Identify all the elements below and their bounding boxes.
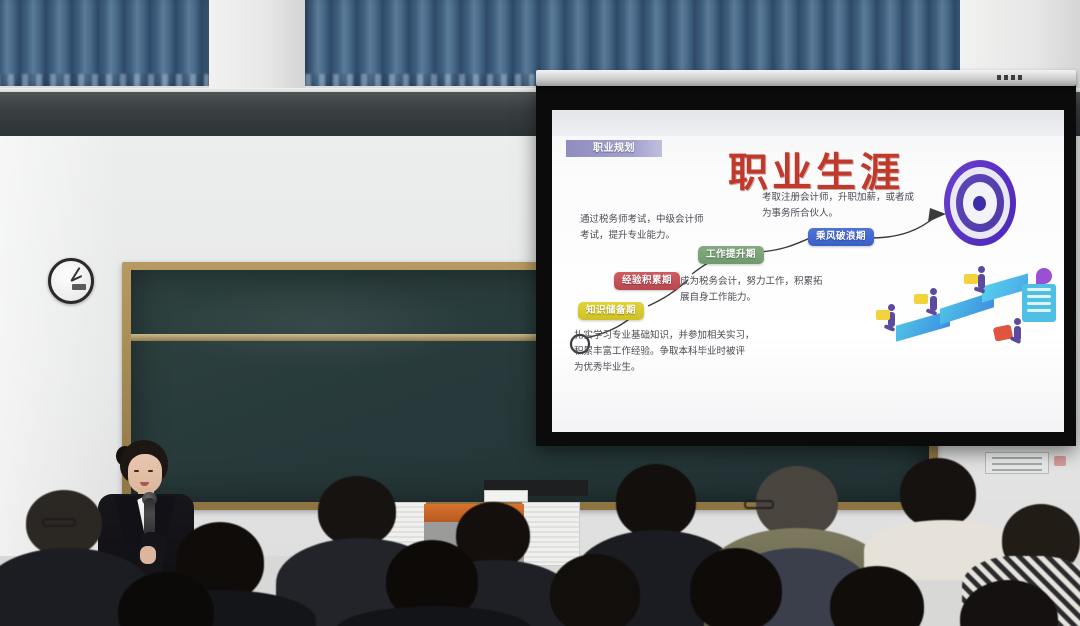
projection-screen: 职业规划 职业生涯 知识储备期 经验积累期 工作提升期 乘风破浪期 考取注册会计… xyxy=(536,84,1076,446)
stage-chip-1: 知识储备期 xyxy=(578,302,644,320)
stage-chip-2: 经验积累期 xyxy=(614,272,680,290)
blackboard-glare xyxy=(163,279,482,372)
audience-glasses xyxy=(744,500,774,509)
audience-head xyxy=(616,464,696,538)
roller-vent-dots xyxy=(997,75,1022,80)
audience-head xyxy=(900,458,976,528)
lecture-hall-photo: 职业规划 职业生涯 知识储备期 经验积累期 工作提升期 乘风破浪期 考取注册会计… xyxy=(0,0,1080,626)
slide-section-tag: 职业规划 xyxy=(566,140,662,157)
audience-glasses xyxy=(42,518,76,527)
chart-card-icon xyxy=(1022,284,1056,322)
bullseye-target-icon xyxy=(944,160,1016,246)
slide-text-bottom: 扎实学习专业基础知识，并参加相关实习， 积累丰富工作经验。争取本科毕业时被评 为… xyxy=(574,328,784,376)
slide-text-middle: 成为税务会计，努力工作，积累拓 展自身工作能力。 xyxy=(680,274,840,306)
audience-head xyxy=(318,476,396,546)
slide-text-top-right: 考取注册会计师，升职加薪，或者成 为事务所合伙人。 xyxy=(762,190,937,222)
slide-text-left: 通过税务师考试，中级会计师 考试，提升专业能力。 xyxy=(580,212,740,244)
audience xyxy=(0,456,1080,626)
stage-chip-3: 工作提升期 xyxy=(698,246,764,264)
wall-clock xyxy=(48,258,94,304)
window-curtain-left xyxy=(0,0,209,92)
stage-chip-4: 乘风破浪期 xyxy=(808,228,874,246)
projector-screen-roller xyxy=(536,70,1076,86)
slide-top-strip xyxy=(552,110,1064,136)
running-people-illustration xyxy=(878,260,1058,352)
audience-head xyxy=(690,548,782,626)
clock-date-window xyxy=(72,284,86,290)
presentation-slide: 职业规划 职业生涯 知识储备期 经验积累期 工作提升期 乘风破浪期 考取注册会计… xyxy=(552,110,1064,432)
audience-head xyxy=(550,554,640,626)
